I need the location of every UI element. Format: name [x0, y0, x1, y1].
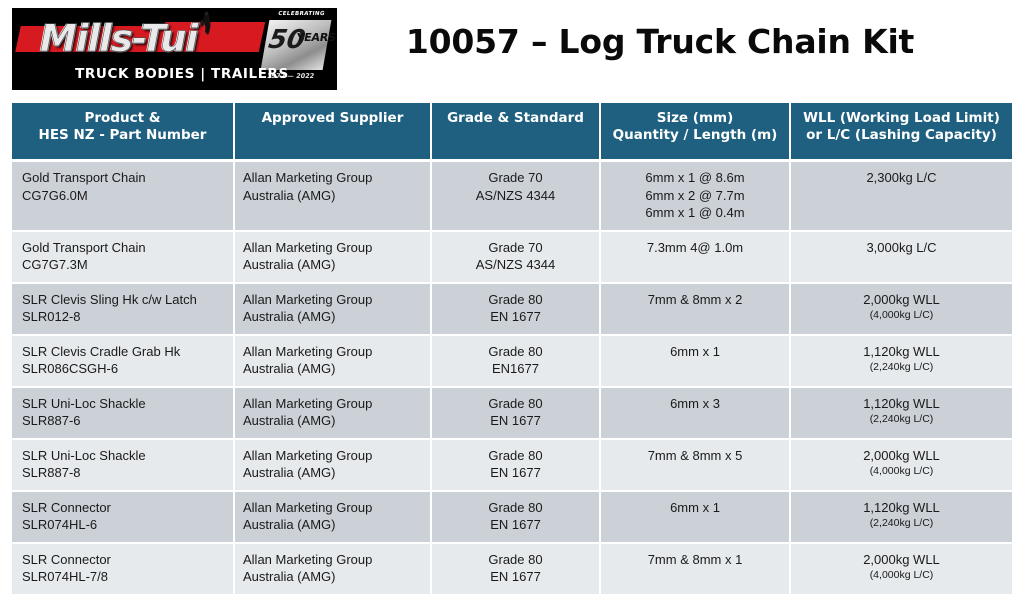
standard-value: EN 1677 — [440, 568, 591, 586]
supplier-line1: Allan Marketing Group — [243, 395, 422, 413]
tui-bird-icon — [199, 10, 215, 36]
part-number: CG7G7.3M — [22, 256, 225, 274]
cell-size: 6mm x 1 @ 8.6m 6mm x 2 @ 7.7m 6mm x 1 @ … — [600, 161, 790, 231]
column-header-wll-line2: or L/C (Lashing Capacity) — [791, 127, 1012, 144]
cell-grade: Grade 80 EN 1677 — [431, 283, 600, 335]
anniversary-badge: CELEBRATING 50 YEARS 1972 — 2022 — [261, 20, 332, 70]
table-row: SLR Clevis Cradle Grab Hk SLR086CSGH-6 A… — [12, 335, 1012, 387]
standard-value: AS/NZS 4344 — [440, 256, 591, 274]
wll-value: 2,000kg WLL — [799, 551, 1004, 569]
standard-value: AS/NZS 4344 — [440, 187, 591, 205]
part-number: SLR012-8 — [22, 308, 225, 326]
table-row: Gold Transport Chain CG7G7.3M Allan Mark… — [12, 231, 1012, 283]
grade-value: Grade 80 — [440, 395, 591, 413]
page-title: 10057 – Log Truck Chain Kit — [360, 22, 960, 61]
cell-grade: Grade 70 AS/NZS 4344 — [431, 231, 600, 283]
cell-product: SLR Uni-Loc Shackle SLR887-8 — [12, 439, 234, 491]
table-row: SLR Uni-Loc Shackle SLR887-6 Allan Marke… — [12, 387, 1012, 439]
wll-value: 2,000kg WLL — [799, 291, 1004, 309]
grade-value: Grade 70 — [440, 239, 591, 257]
cell-supplier: Allan Marketing Group Australia (AMG) — [234, 491, 431, 543]
column-header-grade: Grade & Standard — [431, 103, 600, 161]
size-line1: 7mm & 8mm x 5 — [609, 447, 781, 465]
cell-size: 7mm & 8mm x 1 — [600, 543, 790, 595]
cell-size: 7mm & 8mm x 2 — [600, 283, 790, 335]
part-number: SLR074HL-6 — [22, 516, 225, 534]
cell-grade: Grade 80 EN 1677 — [431, 387, 600, 439]
grade-value: Grade 80 — [440, 499, 591, 517]
supplier-line2: Australia (AMG) — [243, 256, 422, 274]
part-number: CG7G6.0M — [22, 187, 225, 205]
column-header-supplier: Approved Supplier — [234, 103, 431, 161]
cell-wll: 1,120kg WLL (2,240kg L/C) — [790, 491, 1012, 543]
product-name: SLR Connector — [22, 499, 225, 517]
part-number: SLR887-8 — [22, 464, 225, 482]
size-line1: 6mm x 1 — [609, 499, 781, 517]
cell-wll: 2,000kg WLL (4,000kg L/C) — [790, 543, 1012, 595]
part-number: SLR086CSGH-6 — [22, 360, 225, 378]
supplier-line1: Allan Marketing Group — [243, 169, 422, 187]
supplier-line2: Australia (AMG) — [243, 360, 422, 378]
supplier-line2: Australia (AMG) — [243, 464, 422, 482]
wll-value: 1,120kg WLL — [799, 499, 1004, 517]
product-name: SLR Clevis Cradle Grab Hk — [22, 343, 225, 361]
cell-grade: Grade 80 EN 1677 — [431, 543, 600, 595]
column-header-product-line1: Product & — [12, 110, 233, 127]
chain-kit-spec-table: Product & HES NZ - Part Number Approved … — [12, 103, 1012, 596]
cell-product: Gold Transport Chain CG7G7.3M — [12, 231, 234, 283]
table-row: SLR Clevis Sling Hk c/w Latch SLR012-8 A… — [12, 283, 1012, 335]
cell-wll: 2,000kg WLL (4,000kg L/C) — [790, 439, 1012, 491]
supplier-line1: Allan Marketing Group — [243, 447, 422, 465]
column-header-product-line2: HES NZ - Part Number — [12, 127, 233, 144]
column-header-size: Size (mm) Quantity / Length (m) — [600, 103, 790, 161]
wll-value: 2,300kg L/C — [799, 169, 1004, 187]
wll-value: 2,000kg WLL — [799, 447, 1004, 465]
size-line3: 6mm x 1 @ 0.4m — [609, 204, 781, 222]
part-number: SLR887-6 — [22, 412, 225, 430]
cell-product: SLR Clevis Cradle Grab Hk SLR086CSGH-6 — [12, 335, 234, 387]
size-line1: 6mm x 1 — [609, 343, 781, 361]
wll-note: (4,000kg L/C) — [799, 308, 1004, 322]
table-row: SLR Connector SLR074HL-6 Allan Marketing… — [12, 491, 1012, 543]
product-name: SLR Clevis Sling Hk c/w Latch — [22, 291, 225, 309]
table-row: SLR Connector SLR074HL-7/8 Allan Marketi… — [12, 543, 1012, 595]
table-body: Gold Transport Chain CG7G6.0M Allan Mark… — [12, 161, 1012, 595]
column-header-size-line1: Size (mm) — [601, 110, 789, 127]
product-name: Gold Transport Chain — [22, 169, 225, 187]
wll-note: (2,240kg L/C) — [799, 360, 1004, 374]
badge-years-label: YEARS — [295, 32, 336, 43]
standard-value: EN1677 — [440, 360, 591, 378]
wll-note: (4,000kg L/C) — [799, 464, 1004, 478]
cell-supplier: Allan Marketing Group Australia (AMG) — [234, 439, 431, 491]
badge-celebrating-label: CELEBRATING — [270, 11, 333, 17]
supplier-line2: Australia (AMG) — [243, 187, 422, 205]
wll-value: 1,120kg WLL — [799, 395, 1004, 413]
standard-value: EN 1677 — [440, 308, 591, 326]
size-line1: 7mm & 8mm x 2 — [609, 291, 781, 309]
cell-size: 6mm x 1 — [600, 491, 790, 543]
column-header-grade-line1: Grade & Standard — [432, 110, 599, 127]
cell-product: SLR Clevis Sling Hk c/w Latch SLR012-8 — [12, 283, 234, 335]
cell-supplier: Allan Marketing Group Australia (AMG) — [234, 231, 431, 283]
company-logo: Mills-Tui CELEBRATING 50 YEARS 1972 — 20… — [12, 8, 337, 90]
grade-value: Grade 80 — [440, 291, 591, 309]
grade-value: Grade 80 — [440, 551, 591, 569]
column-header-size-line2: Quantity / Length (m) — [601, 127, 789, 144]
cell-wll: 2,300kg L/C — [790, 161, 1012, 231]
cell-size: 7.3mm 4@ 1.0m — [600, 231, 790, 283]
supplier-line1: Allan Marketing Group — [243, 499, 422, 517]
cell-supplier: Allan Marketing Group Australia (AMG) — [234, 543, 431, 595]
supplier-line2: Australia (AMG) — [243, 568, 422, 586]
supplier-line2: Australia (AMG) — [243, 516, 422, 534]
supplier-line1: Allan Marketing Group — [243, 291, 422, 309]
supplier-line1: Allan Marketing Group — [243, 551, 422, 569]
cell-grade: Grade 80 EN 1677 — [431, 439, 600, 491]
part-number: SLR074HL-7/8 — [22, 568, 225, 586]
standard-value: EN 1677 — [440, 516, 591, 534]
size-line1: 6mm x 1 @ 8.6m — [609, 169, 781, 187]
column-header-wll-line1: WLL (Working Load Limit) — [791, 110, 1012, 127]
size-line1: 6mm x 3 — [609, 395, 781, 413]
size-line1: 7.3mm 4@ 1.0m — [609, 239, 781, 257]
cell-supplier: Allan Marketing Group Australia (AMG) — [234, 335, 431, 387]
logo-wordmark: Mills-Tui — [40, 16, 270, 62]
column-header-product: Product & HES NZ - Part Number — [12, 103, 234, 161]
supplier-line1: Allan Marketing Group — [243, 239, 422, 257]
product-name: SLR Uni-Loc Shackle — [22, 447, 225, 465]
cell-size: 6mm x 3 — [600, 387, 790, 439]
cell-wll: 1,120kg WLL (2,240kg L/C) — [790, 335, 1012, 387]
wll-note: (2,240kg L/C) — [799, 412, 1004, 426]
cell-product: Gold Transport Chain CG7G6.0M — [12, 161, 234, 231]
size-line2: 6mm x 2 @ 7.7m — [609, 187, 781, 205]
cell-supplier: Allan Marketing Group Australia (AMG) — [234, 283, 431, 335]
product-name: SLR Connector — [22, 551, 225, 569]
wll-value: 1,120kg WLL — [799, 343, 1004, 361]
cell-size: 7mm & 8mm x 5 — [600, 439, 790, 491]
cell-supplier: Allan Marketing Group Australia (AMG) — [234, 161, 431, 231]
wll-note: (2,240kg L/C) — [799, 516, 1004, 530]
grade-value: Grade 80 — [440, 343, 591, 361]
cell-size: 6mm x 1 — [600, 335, 790, 387]
standard-value: EN 1677 — [440, 412, 591, 430]
cell-wll: 3,000kg L/C — [790, 231, 1012, 283]
page-header: Mills-Tui CELEBRATING 50 YEARS 1972 — 20… — [0, 0, 1024, 96]
cell-grade: Grade 70 AS/NZS 4344 — [431, 161, 600, 231]
cell-grade: Grade 80 EN 1677 — [431, 491, 600, 543]
cell-wll: 2,000kg WLL (4,000kg L/C) — [790, 283, 1012, 335]
logo-tagline: TRUCK BODIES | TRAILERS — [67, 66, 297, 82]
cell-product: SLR Uni-Loc Shackle SLR887-6 — [12, 387, 234, 439]
supplier-line2: Australia (AMG) — [243, 308, 422, 326]
grade-value: Grade 80 — [440, 447, 591, 465]
cell-product: SLR Connector SLR074HL-7/8 — [12, 543, 234, 595]
product-name: SLR Uni-Loc Shackle — [22, 395, 225, 413]
cell-supplier: Allan Marketing Group Australia (AMG) — [234, 387, 431, 439]
cell-product: SLR Connector SLR074HL-6 — [12, 491, 234, 543]
product-name: Gold Transport Chain — [22, 239, 225, 257]
standard-value: EN 1677 — [440, 464, 591, 482]
wll-note: (4,000kg L/C) — [799, 568, 1004, 582]
supplier-line1: Allan Marketing Group — [243, 343, 422, 361]
wll-value: 3,000kg L/C — [799, 239, 1004, 257]
grade-value: Grade 70 — [440, 169, 591, 187]
cell-grade: Grade 80 EN1677 — [431, 335, 600, 387]
cell-wll: 1,120kg WLL (2,240kg L/C) — [790, 387, 1012, 439]
table-header-row: Product & HES NZ - Part Number Approved … — [12, 103, 1012, 161]
table-row: Gold Transport Chain CG7G6.0M Allan Mark… — [12, 161, 1012, 231]
column-header-wll: WLL (Working Load Limit) or L/C (Lashing… — [790, 103, 1012, 161]
column-header-supplier-line1: Approved Supplier — [235, 110, 430, 127]
table-row: SLR Uni-Loc Shackle SLR887-8 Allan Marke… — [12, 439, 1012, 491]
supplier-line2: Australia (AMG) — [243, 412, 422, 430]
size-line1: 7mm & 8mm x 1 — [609, 551, 781, 569]
